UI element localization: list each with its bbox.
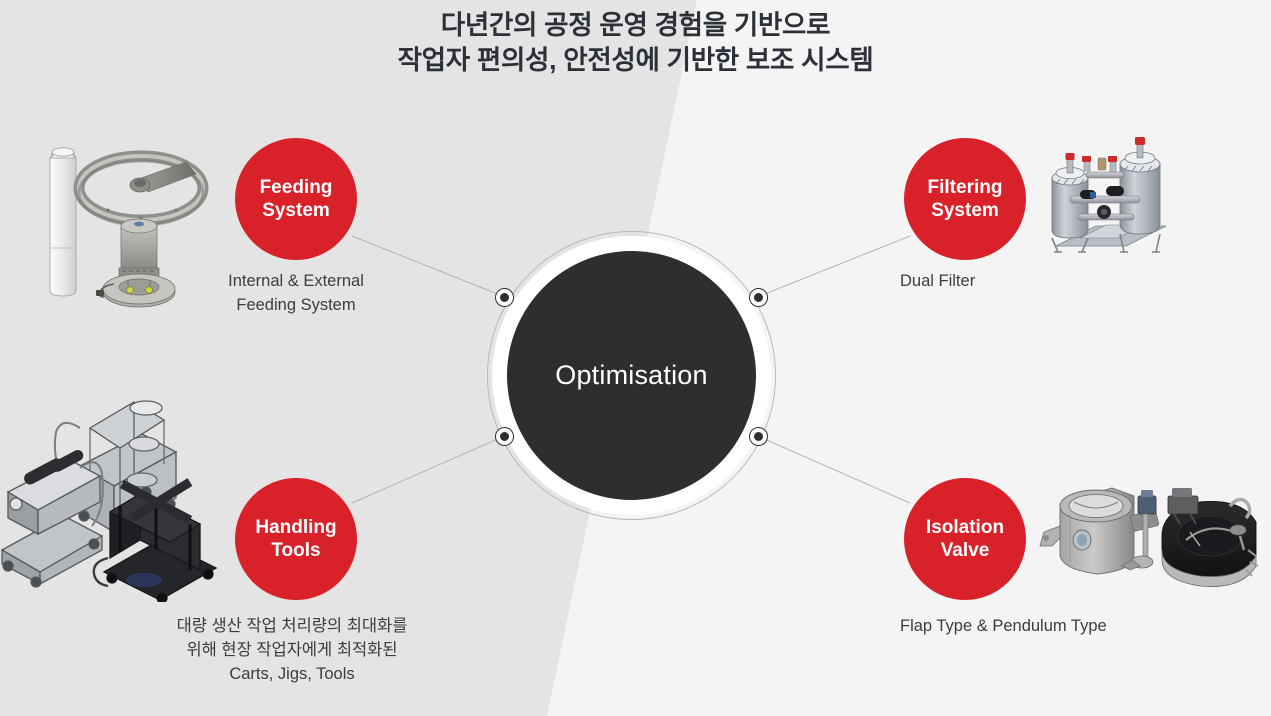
bubble-handling-line2: Tools (271, 539, 320, 562)
bubble-feeding-system[interactable]: Feeding System (235, 138, 357, 260)
caption-handling-line3: Carts, Jigs, Tools (142, 662, 442, 686)
isolation-valve-illustration (1034, 474, 1264, 604)
bubble-filtering-line1: Filtering (928, 176, 1003, 199)
bubble-feeding-line2: System (262, 199, 330, 222)
bubble-isolation-valve[interactable]: Isolation Valve (904, 478, 1026, 600)
hub-node-bottom-right (749, 427, 768, 446)
caption-handling-line1: 대량 생산 작업 처리량의 최대화를 (142, 614, 442, 638)
hub-node-top-left (495, 288, 514, 307)
title-line-2: 작업자 편의성, 안전성에 기반한 보조 시스템 (0, 43, 1271, 78)
caption-handling-tools: 대량 생산 작업 처리량의 최대화를 위해 현장 작업자에게 최적화된 Cart… (142, 614, 442, 686)
carts-jigs-tools-illustration (0, 372, 234, 602)
caption-feeding-line1: Internal & External (146, 269, 446, 293)
bubble-handling-tools[interactable]: Handling Tools (235, 478, 357, 600)
flange-ring-part (79, 156, 203, 225)
caption-filtering-line1: Dual Filter (900, 269, 1091, 293)
caption-handling-line2: 위해 현장 작업자에게 최적화된 (142, 638, 442, 662)
hub-core-circle: Optimisation (507, 251, 756, 500)
slide-canvas: 다년간의 공정 운영 경험을 기반으로 작업자 편의성, 안전성에 기반한 보조… (0, 0, 1271, 716)
caption-feeding-line2: Feeding System (146, 293, 446, 317)
caption-feeding-system: Internal & External Feeding System (146, 269, 446, 317)
bubble-handling-line1: Handling (255, 516, 336, 539)
pendulum-type-valve (1162, 488, 1258, 587)
bubble-isolation-line1: Isolation (926, 516, 1004, 539)
bubble-feeding-line1: Feeding (260, 176, 333, 199)
slide-title: 다년간의 공정 운영 경험을 기반으로 작업자 편의성, 안전성에 기반한 보조… (0, 8, 1271, 78)
caption-isolation-valve: Flap Type & Pendulum Type (791, 614, 1131, 638)
hub-label: Optimisation (555, 360, 707, 391)
title-line-1: 다년간의 공정 운영 경험을 기반으로 (0, 8, 1271, 43)
optimisation-hub[interactable]: Optimisation (487, 231, 776, 520)
hub-node-bottom-left (495, 427, 514, 446)
dual-filter-illustration (1034, 134, 1184, 284)
flap-type-valve (1040, 488, 1159, 574)
hub-node-top-right (749, 288, 768, 307)
caption-filtering-system: Dual Filter (791, 269, 1091, 293)
tube-part (50, 148, 76, 296)
bubble-isolation-line2: Valve (941, 539, 990, 562)
bubble-filtering-line2: System (931, 199, 999, 222)
caption-isolation-line1: Flap Type & Pendulum Type (900, 614, 1131, 638)
bubble-filtering-system[interactable]: Filtering System (904, 138, 1026, 260)
